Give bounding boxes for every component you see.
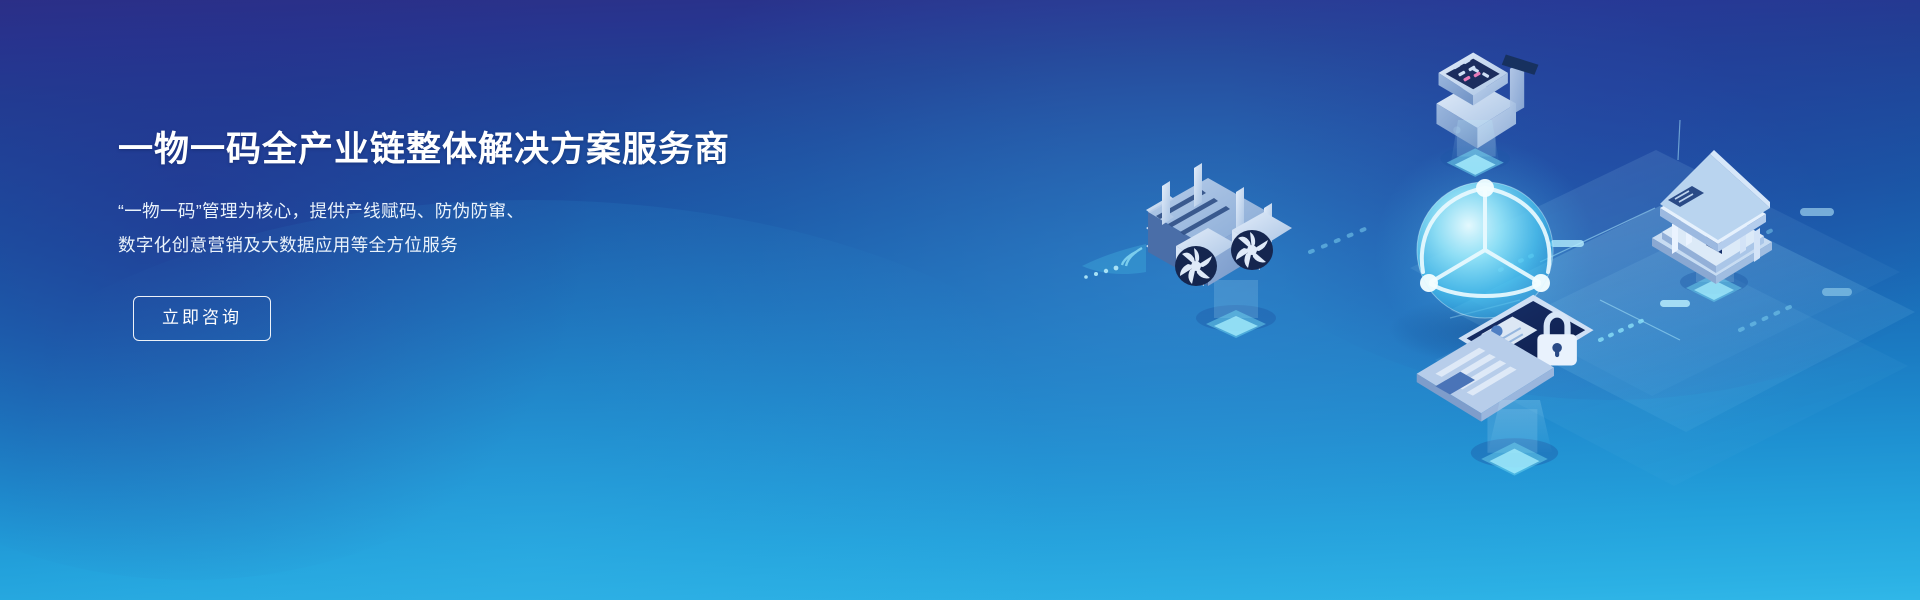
dashed-data-streams: [1310, 226, 1792, 340]
ambient-glow-top-right: [1160, 0, 1920, 400]
page-title: 一物一码全产业链整体解决方案服务商: [118, 128, 838, 172]
fan-two: [1231, 212, 1292, 270]
bank-building-icon: [1652, 150, 1772, 302]
glow-pills: [1550, 208, 1852, 307]
scan-beam: [1082, 244, 1146, 279]
hero-banner: 一物一码全产业链整体解决方案服务商 “一物一码”管理为核心，提供产线赋码、防伪防…: [0, 0, 1920, 600]
isometric-platform: [1410, 150, 1915, 486]
hero-copy: 一物一码全产业链整体解决方案服务商 “一物一码”管理为核心，提供产线赋码、防伪防…: [118, 128, 838, 341]
network-sphere: [1375, 140, 1595, 364]
padlock-icon: [1537, 311, 1577, 365]
laptop-padlock-icon: [1417, 295, 1594, 476]
server-rack-fans-icon: [1082, 163, 1292, 338]
hero-subtitle: “一物一码”管理为核心，提供产线赋码、防伪防窜、 数字化创意营销及大数据应用等全…: [118, 194, 678, 262]
pos-terminal-icon: [1436, 52, 1538, 176]
consult-now-button[interactable]: 立即咨询: [133, 296, 271, 341]
hero-subtitle-line-2: 数字化创意营销及大数据应用等全方位服务: [118, 228, 678, 262]
hero-illustration: [980, 0, 1920, 600]
network-connectors: [1450, 120, 1766, 340]
hero-subtitle-line-1: “一物一码”管理为核心，提供产线赋码、防伪防窜、: [118, 194, 678, 228]
fan-one: [1175, 228, 1236, 286]
